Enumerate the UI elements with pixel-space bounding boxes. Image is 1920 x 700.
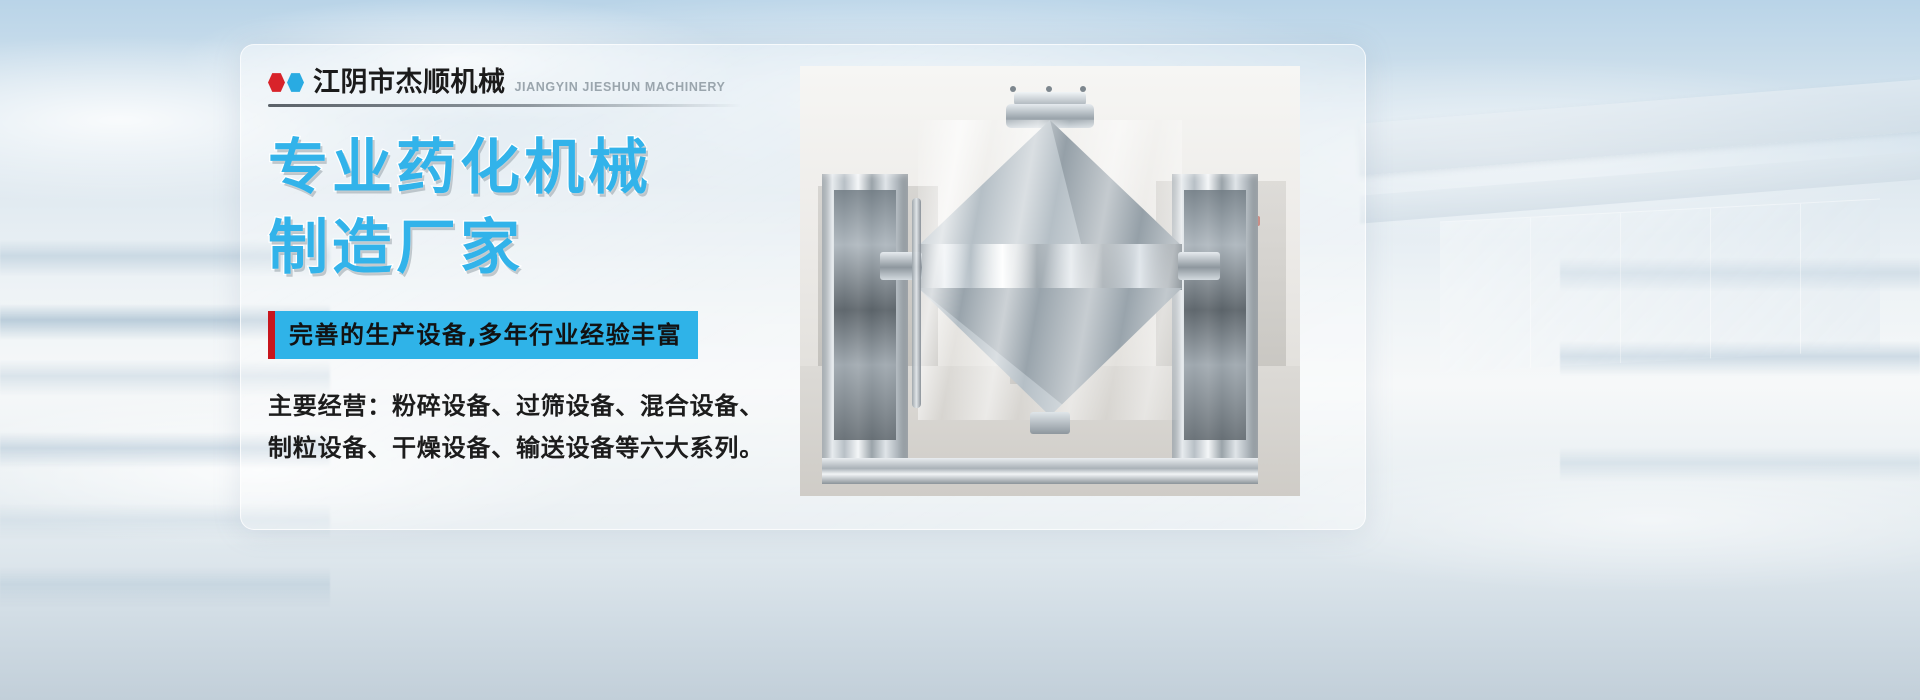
manhole-bolt [1010,86,1016,92]
blue-hexagon-icon [287,73,304,92]
mullion-line [1620,213,1621,363]
support-leg-right [1172,174,1258,484]
architecture-backdrop [1360,60,1920,390]
product-photo [800,66,1300,496]
brand-logo[interactable]: 江阴市杰顺机械 JIANGYIN JIESHUN MACHINERY [268,62,768,96]
brand-name-cn: 江阴市杰顺机械 [313,69,506,96]
support-leg-left [822,174,908,484]
mullion-line [1800,204,1801,354]
highlight-bar-text: 完善的生产设备,多年行业经验丰富 [289,323,682,347]
content-block: 江阴市杰顺机械 JIANGYIN JIESHUN MACHINERY 专业药化机… [268,62,768,469]
brand-divider [268,104,742,107]
description-line-2: 制粒设备、干燥设备、输送设备等六大系列。 [268,427,768,469]
promo-banner: 江阴市杰顺机械 JIANGYIN JIESHUN MACHINERY 专业药化机… [0,0,1920,700]
machine-frame [800,66,1300,496]
glass-pane [1440,198,1880,372]
machine-base [822,458,1258,484]
mullion-line [1710,208,1711,358]
brand-name-en: JIANGYIN JIESHUN MACHINERY [515,81,726,94]
page-title: 专业药化机械 制造厂家 [268,129,768,289]
leg-inner-panel [834,190,896,440]
highlight-bar: 完善的生产设备,多年行业经验丰富 [268,311,698,359]
discharge-outlet [1030,412,1070,434]
headline-line-2: 制造厂家 [268,209,768,289]
description-text: 主要经营：粉碎设备、过筛设备、混合设备、 制粒设备、干燥设备、输送设备等六大系列… [268,385,768,469]
description-line-1: 主要经营：粉碎设备、过筛设备、混合设备、 [268,385,768,427]
cone-center-band [918,244,1182,290]
trunnion-right [1178,252,1220,280]
red-hexagon-icon [268,73,285,92]
leg-inner-panel [1184,190,1246,440]
mullion-line [1530,218,1531,368]
logo-marks [268,73,304,92]
headline-line-1: 专业药化机械 [268,129,768,209]
double-cone-vessel [918,120,1182,420]
side-pipe [912,198,921,408]
